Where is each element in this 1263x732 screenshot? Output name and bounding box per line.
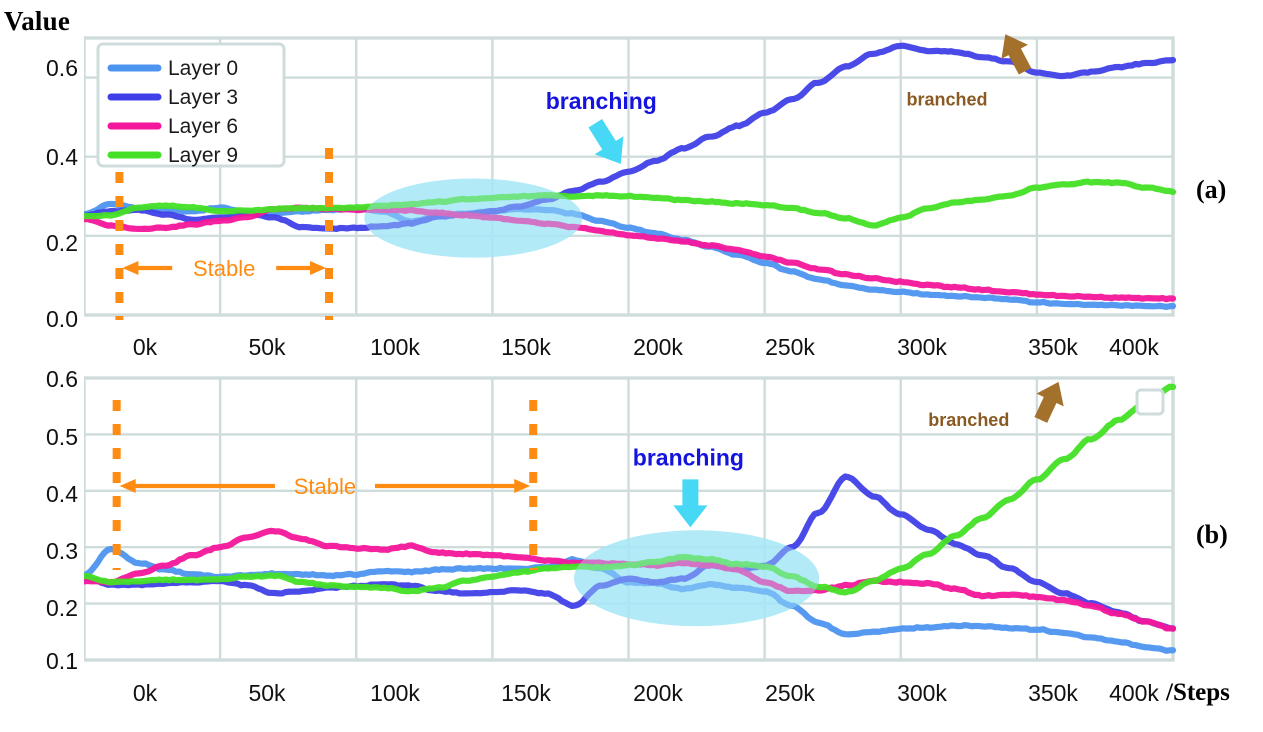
panel-b-xtick-6: 300k [872,680,972,707]
branching-label: branching [633,444,744,470]
panel-b-plot: Stablebranchingbranched [84,370,1179,668]
panel-b-ytick-5: 0.1 [18,648,78,675]
panel-a-ytick-3: 0.0 [18,306,78,333]
branched-label: branched [907,89,988,109]
legend-label: Layer 6 [168,115,238,138]
steps-axis-label: /Steps [1166,679,1230,707]
panel-a-ytick-1: 0.4 [18,144,78,171]
panel-a-xtick-2: 100k [345,334,445,361]
panel-a-tag: (a) [1196,175,1226,205]
panel-b-xtick-0: 0k [105,680,185,707]
panel-a-xtick-4: 200k [608,334,708,361]
panel-b-ytick-2: 0.4 [18,481,78,508]
panel-b-xtick-5: 250k [740,680,840,707]
stable-label: Stable [294,474,356,499]
figure-root: Value 0.6 0.4 0.2 0.0 0k 50k 100k 150k 2… [0,0,1263,732]
value-axis-title: Value [4,6,70,37]
panel-a-xtick-3: 150k [476,334,576,361]
panel-b-xtick-3: 150k [476,680,576,707]
panel-b-xtick-1: 50k [222,680,312,707]
highlight-ellipse [574,530,819,626]
stable-label: Stable [193,256,255,281]
panel-b-xtick-2: 100k [345,680,445,707]
legend-label: Layer 9 [168,144,238,167]
legend-label: Layer 3 [168,86,238,109]
panel-b-tag: (b) [1196,520,1228,550]
corner-box [1137,390,1163,414]
highlight-ellipse [364,178,582,257]
panel-a-xtick-0: 0k [105,334,185,361]
panel-b-ytick-1: 0.5 [18,424,78,451]
panel-b-ytick-0: 0.6 [18,366,78,393]
panel-a-xtick-1: 50k [222,334,312,361]
branching-label: branching [546,88,657,114]
panel-a-xtick-8: 400k [1084,334,1184,361]
panel-a-ytick-2: 0.2 [18,230,78,257]
branched-label: branched [928,410,1009,430]
panel-b-ytick-4: 0.2 [18,595,78,622]
panel-a-xtick-6: 300k [872,334,972,361]
panel-a-plot: StablebranchingbranchedLayer 0Layer 3Lay… [84,30,1179,325]
panel-b-ytick-3: 0.3 [18,538,78,565]
panel-a-ytick-0: 0.6 [18,55,78,82]
panel-b-xtick-4: 200k [608,680,708,707]
legend-label: Layer 0 [168,57,238,80]
panel-a-xtick-5: 250k [740,334,840,361]
